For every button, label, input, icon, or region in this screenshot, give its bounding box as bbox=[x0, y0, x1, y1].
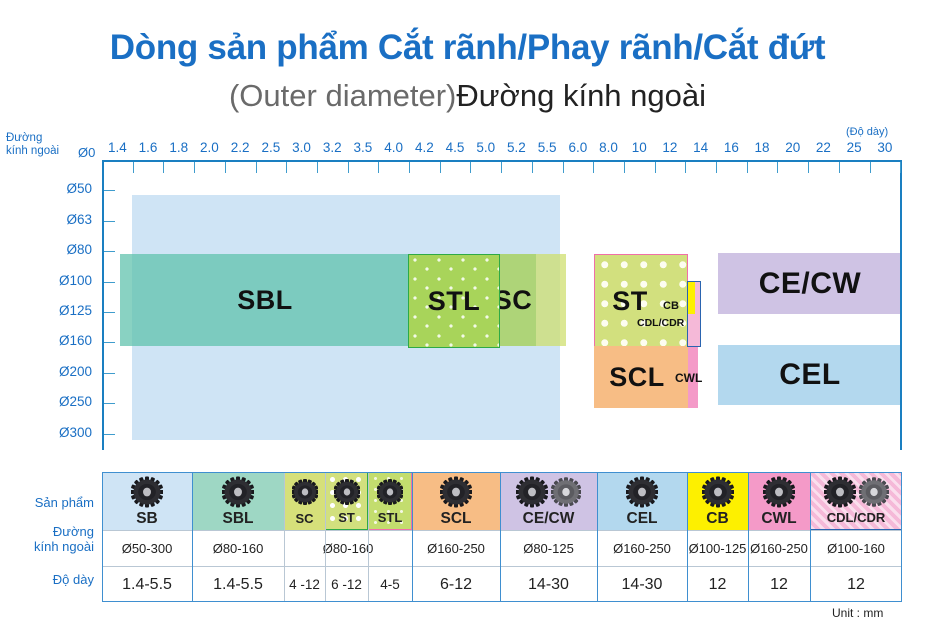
table-outer-diameter-cell: Ø100-125 bbox=[687, 530, 748, 566]
y-axis-tick-label: Ø300 bbox=[32, 425, 92, 440]
table-column[interactable]: CE/CWØ80-12514-30 bbox=[500, 472, 597, 602]
x-axis-tick-label: 16 bbox=[714, 140, 748, 155]
x-axis-tick bbox=[317, 162, 318, 173]
x-axis-tick bbox=[777, 162, 778, 173]
x-axis-tick-label: 4.0 bbox=[377, 140, 411, 155]
y-axis-tick-label: Ø80 bbox=[32, 242, 92, 257]
x-axis-tick-label: 2.5 bbox=[254, 140, 288, 155]
x-axis-tick bbox=[163, 162, 164, 173]
x-axis-tick-label: 2.2 bbox=[223, 140, 257, 155]
table-thickness-cell: 14-30 bbox=[597, 566, 687, 602]
y-axis-title: Đường kính ngoài bbox=[6, 132, 84, 158]
y-axis-tick bbox=[104, 251, 115, 252]
table-outer-diameter-cell: Ø100-160 bbox=[810, 530, 902, 566]
y-axis-tick bbox=[104, 312, 115, 313]
x-axis-tick-label: 5.0 bbox=[469, 140, 503, 155]
table-product-name: CEL bbox=[627, 511, 658, 530]
table-product-name: SCL bbox=[441, 511, 472, 530]
table-thickness-cell: 12 bbox=[687, 566, 748, 602]
table-thickness-cell: 12 bbox=[748, 566, 810, 602]
table-column-divider bbox=[192, 472, 193, 602]
x-axis-unit-note: (Độ dày) bbox=[846, 126, 888, 138]
table-column[interactable]: SCLØ160-2506-12 bbox=[412, 472, 500, 602]
table-product-name: ST bbox=[338, 510, 355, 529]
table-thickness-cell: 6 -12 bbox=[325, 566, 368, 602]
x-axis-tick bbox=[470, 162, 471, 173]
x-axis-tick bbox=[532, 162, 533, 173]
table-outer-diameter-cell: Ø160-250 bbox=[412, 530, 500, 566]
table-product-name: SBL bbox=[223, 511, 254, 530]
table-product-cell[interactable]: CWL bbox=[748, 472, 810, 530]
x-axis-tick-label: 20 bbox=[776, 140, 810, 155]
table-product-name: CDL/CDR bbox=[827, 510, 886, 529]
x-axis-tick-label: 1.4 bbox=[100, 140, 134, 155]
table-column-divider bbox=[284, 472, 285, 602]
x-axis-tick-label: 4.2 bbox=[407, 140, 441, 155]
table-row-label-thickness: Độ dày bbox=[6, 572, 94, 587]
x-axis-tick bbox=[378, 162, 379, 173]
table-product-cell[interactable]: CEL bbox=[597, 472, 687, 530]
y-axis-tick-label: Ø250 bbox=[32, 394, 92, 409]
table-product-name: CE/CW bbox=[523, 511, 575, 530]
x-axis-tick bbox=[839, 162, 840, 173]
x-axis-tick bbox=[593, 162, 594, 173]
table-row-label-product: Sản phẩm bbox=[6, 495, 94, 510]
table-product-cell[interactable]: SBL bbox=[192, 472, 284, 530]
x-axis-tick-label: 3.0 bbox=[285, 140, 319, 155]
y-axis-line bbox=[102, 160, 104, 450]
chart-right-border bbox=[900, 160, 902, 450]
y-axis-tick-label: Ø200 bbox=[32, 364, 92, 379]
table-product-cell[interactable]: SB bbox=[102, 472, 192, 530]
table-thickness-cell: 14-30 bbox=[500, 566, 597, 602]
x-axis-tick bbox=[685, 162, 686, 173]
x-axis-tick bbox=[563, 162, 564, 173]
table-product-cell[interactable]: ST bbox=[325, 472, 368, 530]
x-axis-tick-label: 1.8 bbox=[162, 140, 196, 155]
y-axis-tick bbox=[104, 221, 115, 222]
x-axis-tick bbox=[655, 162, 656, 173]
table-product-name: CWL bbox=[761, 511, 796, 530]
x-axis-tick bbox=[409, 162, 410, 173]
table-column[interactable]: CELØ160-25014-30 bbox=[597, 472, 687, 602]
table-column-divider bbox=[597, 472, 598, 602]
table-column[interactable]: CWLØ160-25012 bbox=[748, 472, 810, 602]
table-column[interactable]: SBØ50-3001.4-5.5 bbox=[102, 472, 192, 602]
table-row-label-od-line1: Đường bbox=[6, 524, 94, 539]
cutter-icon bbox=[440, 472, 472, 511]
table-product-cell[interactable]: SCL bbox=[412, 472, 500, 530]
x-axis-tick-label: 4.5 bbox=[438, 140, 472, 155]
cutter-icon bbox=[763, 472, 795, 511]
table-outer-diameter-cell-merged: Ø80-160 bbox=[284, 530, 412, 566]
table-product-name: STL bbox=[378, 510, 403, 529]
table-thickness-cell: 12 bbox=[810, 566, 902, 602]
cutter-icon bbox=[377, 473, 403, 510]
y-axis-tick-label: Ø100 bbox=[32, 273, 92, 288]
table-outer-diameter-cell: Ø160-250 bbox=[597, 530, 687, 566]
cutter-icon bbox=[626, 472, 658, 511]
table-column[interactable]: CBØ100-12512 bbox=[687, 472, 748, 602]
x-axis-tick bbox=[440, 162, 441, 173]
table-thickness-cell: 6-12 bbox=[412, 566, 500, 602]
cutter-icon bbox=[516, 472, 581, 511]
table-product-name: CB bbox=[706, 511, 728, 530]
y-axis-tick bbox=[104, 373, 115, 374]
table-outer-diameter-cell: Ø50-300 bbox=[102, 530, 192, 566]
y-axis-zero-label: Ø0 bbox=[78, 145, 95, 160]
cutter-icon bbox=[334, 473, 360, 510]
y-axis-title-line1: Đường bbox=[6, 132, 84, 145]
page-title: Dòng sản phẩm Cắt rãnh/Phay rãnh/Cắt đứt bbox=[0, 28, 935, 68]
subtitle-english: (Outer diameter) bbox=[229, 78, 456, 113]
table-thickness-cell: 4-5 bbox=[368, 566, 412, 602]
table-thickness-cell: 4 -12 bbox=[284, 566, 325, 602]
x-axis-tick-label: 5.2 bbox=[499, 140, 533, 155]
cutter-icon bbox=[824, 473, 889, 510]
x-axis-tick bbox=[133, 162, 134, 173]
x-axis-tick-label: 3.5 bbox=[346, 140, 380, 155]
x-axis-tick bbox=[870, 162, 871, 173]
x-axis-tick-label: 30 bbox=[868, 140, 902, 155]
x-axis-tick bbox=[716, 162, 717, 173]
subtitle-vietnamese: Đường kính ngoài bbox=[456, 78, 706, 113]
cutter-icon bbox=[702, 472, 734, 511]
cutter-icon bbox=[131, 472, 163, 511]
y-axis-tick bbox=[104, 434, 115, 435]
table-column-divider bbox=[500, 472, 501, 602]
table-product-name: SC bbox=[295, 511, 313, 530]
table-column-divider bbox=[368, 472, 369, 602]
table-column-divider bbox=[748, 472, 749, 602]
y-axis-tick bbox=[104, 342, 115, 343]
x-axis-tick bbox=[194, 162, 195, 173]
x-axis-tick-label: 6.0 bbox=[561, 140, 595, 155]
x-axis-tick-label: 10 bbox=[622, 140, 656, 155]
unit-note: Unit : mm bbox=[832, 606, 883, 620]
table-thickness-cell: 1.4-5.5 bbox=[192, 566, 284, 602]
product-spec-table: SBØ50-3001.4-5.5SBLØ80-1601.4-5.5SC4 -12… bbox=[102, 472, 902, 602]
x-axis-tick bbox=[286, 162, 287, 173]
x-axis-tick-label: 8.0 bbox=[592, 140, 626, 155]
y-axis-tick-label: Ø50 bbox=[32, 181, 92, 196]
x-axis-tick-label: 5.5 bbox=[530, 140, 564, 155]
table-row-label-outer-diameter: Đường kính ngoài bbox=[6, 524, 94, 554]
table-column-divider bbox=[810, 472, 811, 602]
y-axis-tick bbox=[104, 403, 115, 404]
x-axis-tick-label: 2.0 bbox=[192, 140, 226, 155]
y-axis-tick-label: Ø160 bbox=[32, 333, 92, 348]
table-outer-diameter-cell: Ø160-250 bbox=[748, 530, 810, 566]
x-axis-tick bbox=[808, 162, 809, 173]
y-axis-tick bbox=[104, 282, 115, 283]
y-axis-tick-label: Ø63 bbox=[32, 212, 92, 227]
table-product-cell[interactable]: CDL/CDR bbox=[810, 472, 902, 530]
table-row-label-od-line2: kính ngoài bbox=[6, 539, 94, 554]
table-product-cell[interactable]: CB bbox=[687, 472, 748, 530]
x-axis-tick-label: 25 bbox=[837, 140, 871, 155]
y-axis-tick-label: Ø125 bbox=[32, 303, 92, 318]
table-column-divider bbox=[412, 472, 413, 602]
table-outer-diameter-cell: Ø80-160 bbox=[192, 530, 284, 566]
table-column-divider bbox=[687, 472, 688, 602]
cutter-icon bbox=[222, 472, 254, 511]
table-product-name: SB bbox=[136, 511, 158, 530]
table-column[interactable]: CDL/CDRØ100-16012 bbox=[810, 472, 902, 602]
x-axis-tick bbox=[348, 162, 349, 173]
chart-axes bbox=[102, 160, 902, 450]
x-axis-tick-label: 3.2 bbox=[315, 140, 349, 155]
table-outer-diameter-cell: Ø80-125 bbox=[500, 530, 597, 566]
x-axis-tick-label: 14 bbox=[684, 140, 718, 155]
x-axis-tick-label: 1.6 bbox=[131, 140, 165, 155]
cutter-icon bbox=[292, 472, 318, 511]
table-column-divider bbox=[325, 472, 326, 602]
table-thickness-cell: 1.4-5.5 bbox=[102, 566, 192, 602]
x-axis-tick bbox=[900, 162, 901, 173]
x-axis-tick bbox=[624, 162, 625, 173]
x-axis-tick-label: 22 bbox=[806, 140, 840, 155]
x-axis-tick bbox=[747, 162, 748, 173]
y-axis-tick bbox=[104, 190, 115, 191]
table-product-cell[interactable]: CE/CW bbox=[500, 472, 597, 530]
x-axis-tick-label: 12 bbox=[653, 140, 687, 155]
x-axis-tick bbox=[225, 162, 226, 173]
table-product-cell[interactable]: SC bbox=[284, 472, 325, 530]
table-column[interactable]: SBLØ80-1601.4-5.5 bbox=[192, 472, 284, 602]
x-axis-tick-label: 18 bbox=[745, 140, 779, 155]
page-subtitle: (Outer diameter)Đường kính ngoài bbox=[0, 78, 935, 114]
y-axis-title-line2: kính ngoài bbox=[6, 145, 84, 158]
x-axis-tick bbox=[256, 162, 257, 173]
table-product-cell[interactable]: STL bbox=[368, 472, 412, 530]
x-axis-tick bbox=[501, 162, 502, 173]
